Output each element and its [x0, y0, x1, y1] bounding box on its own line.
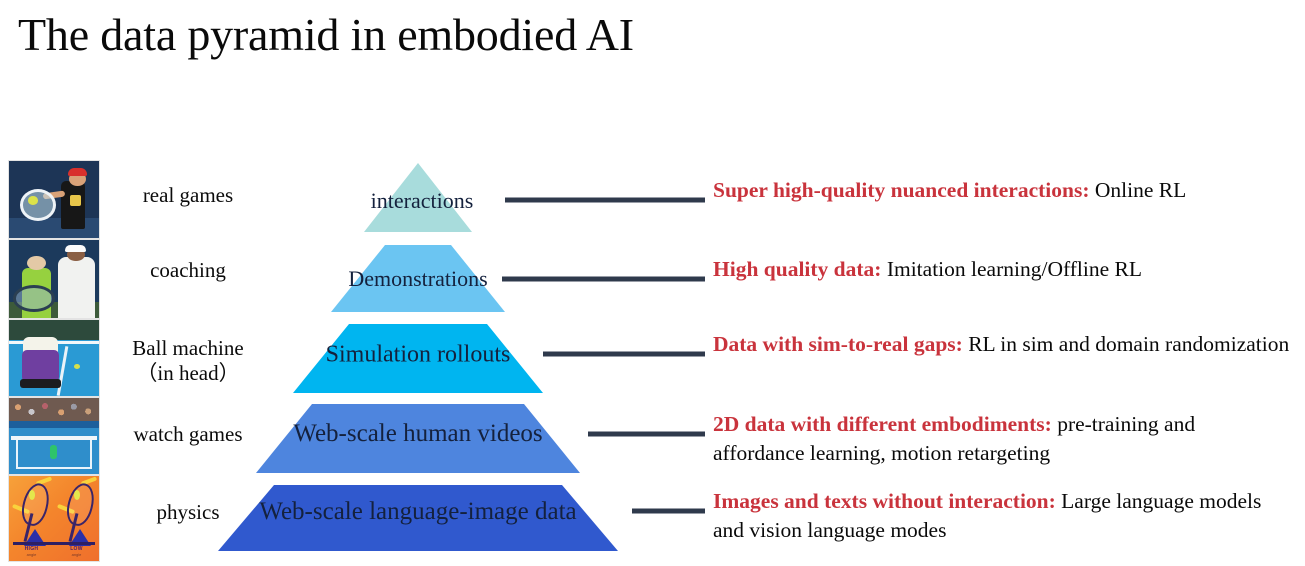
pyramid-layer-5-label[interactable]: Web-scale language-image data — [259, 498, 576, 526]
annotation-head-2: High quality data: — [713, 257, 881, 281]
tennis-match-photo — [8, 397, 100, 475]
thumbnail-label-real-games: real games — [108, 183, 268, 208]
page-title: The data pyramid in embodied AI — [18, 6, 634, 64]
annotation-body-2: Imitation learning/Offline RL — [881, 257, 1142, 281]
thumbnail-strip: HIGH angle LOW angle — [8, 160, 100, 562]
physics-left-sub: angle — [18, 552, 45, 557]
ball-machine-line1: Ball machine — [108, 336, 268, 361]
annotation-body-3: RL in sim and domain randomization — [963, 332, 1289, 356]
thumbnail-label-watch-games: watch games — [108, 422, 268, 447]
annotation-head-1: Super high-quality nuanced interactions: — [713, 178, 1090, 202]
annotation-item-5: Images and texts without interaction: La… — [713, 487, 1291, 545]
annotation-head-3: Data with sim-to-real gaps: — [713, 332, 963, 356]
annotation-item-3: Data with sim-to-real gaps: RL in sim an… — [713, 330, 1291, 359]
ball-machine-photo — [8, 319, 100, 397]
tennis-coaching-photo — [8, 239, 100, 319]
pyramid-layer-1-label[interactable]: interactions — [371, 188, 474, 214]
pyramid-layer-4-label[interactable]: Web-scale human videos — [293, 420, 542, 448]
annotation-item-1: Super high-quality nuanced interactions:… — [713, 176, 1291, 205]
tennis-player-photo — [8, 160, 100, 239]
annotation-item-4: 2D data with different embodiments: pre-… — [713, 410, 1291, 468]
thumbnail-label-ball-machine: Ball machine （in head） — [108, 336, 268, 386]
pyramid-layer-3-label[interactable]: Simulation rollouts — [326, 342, 511, 369]
annotation-head-5: Images and texts without interaction: — [713, 489, 1056, 513]
thumbnail-label-coaching: coaching — [108, 258, 268, 283]
ball-machine-line2: （in head） — [108, 361, 268, 386]
thumbnail-label-physics: physics — [108, 500, 268, 525]
annotation-head-4: 2D data with different embodiments: — [713, 412, 1052, 436]
annotation-item-2: High quality data: Imitation learning/Of… — [713, 255, 1291, 284]
pyramid-layer-2-label[interactable]: Demonstrations — [348, 266, 487, 292]
annotation-body-1: Online RL — [1090, 178, 1187, 202]
racket-physics-diagram: HIGH angle LOW angle — [8, 475, 100, 562]
physics-right-sub: angle — [63, 552, 90, 557]
